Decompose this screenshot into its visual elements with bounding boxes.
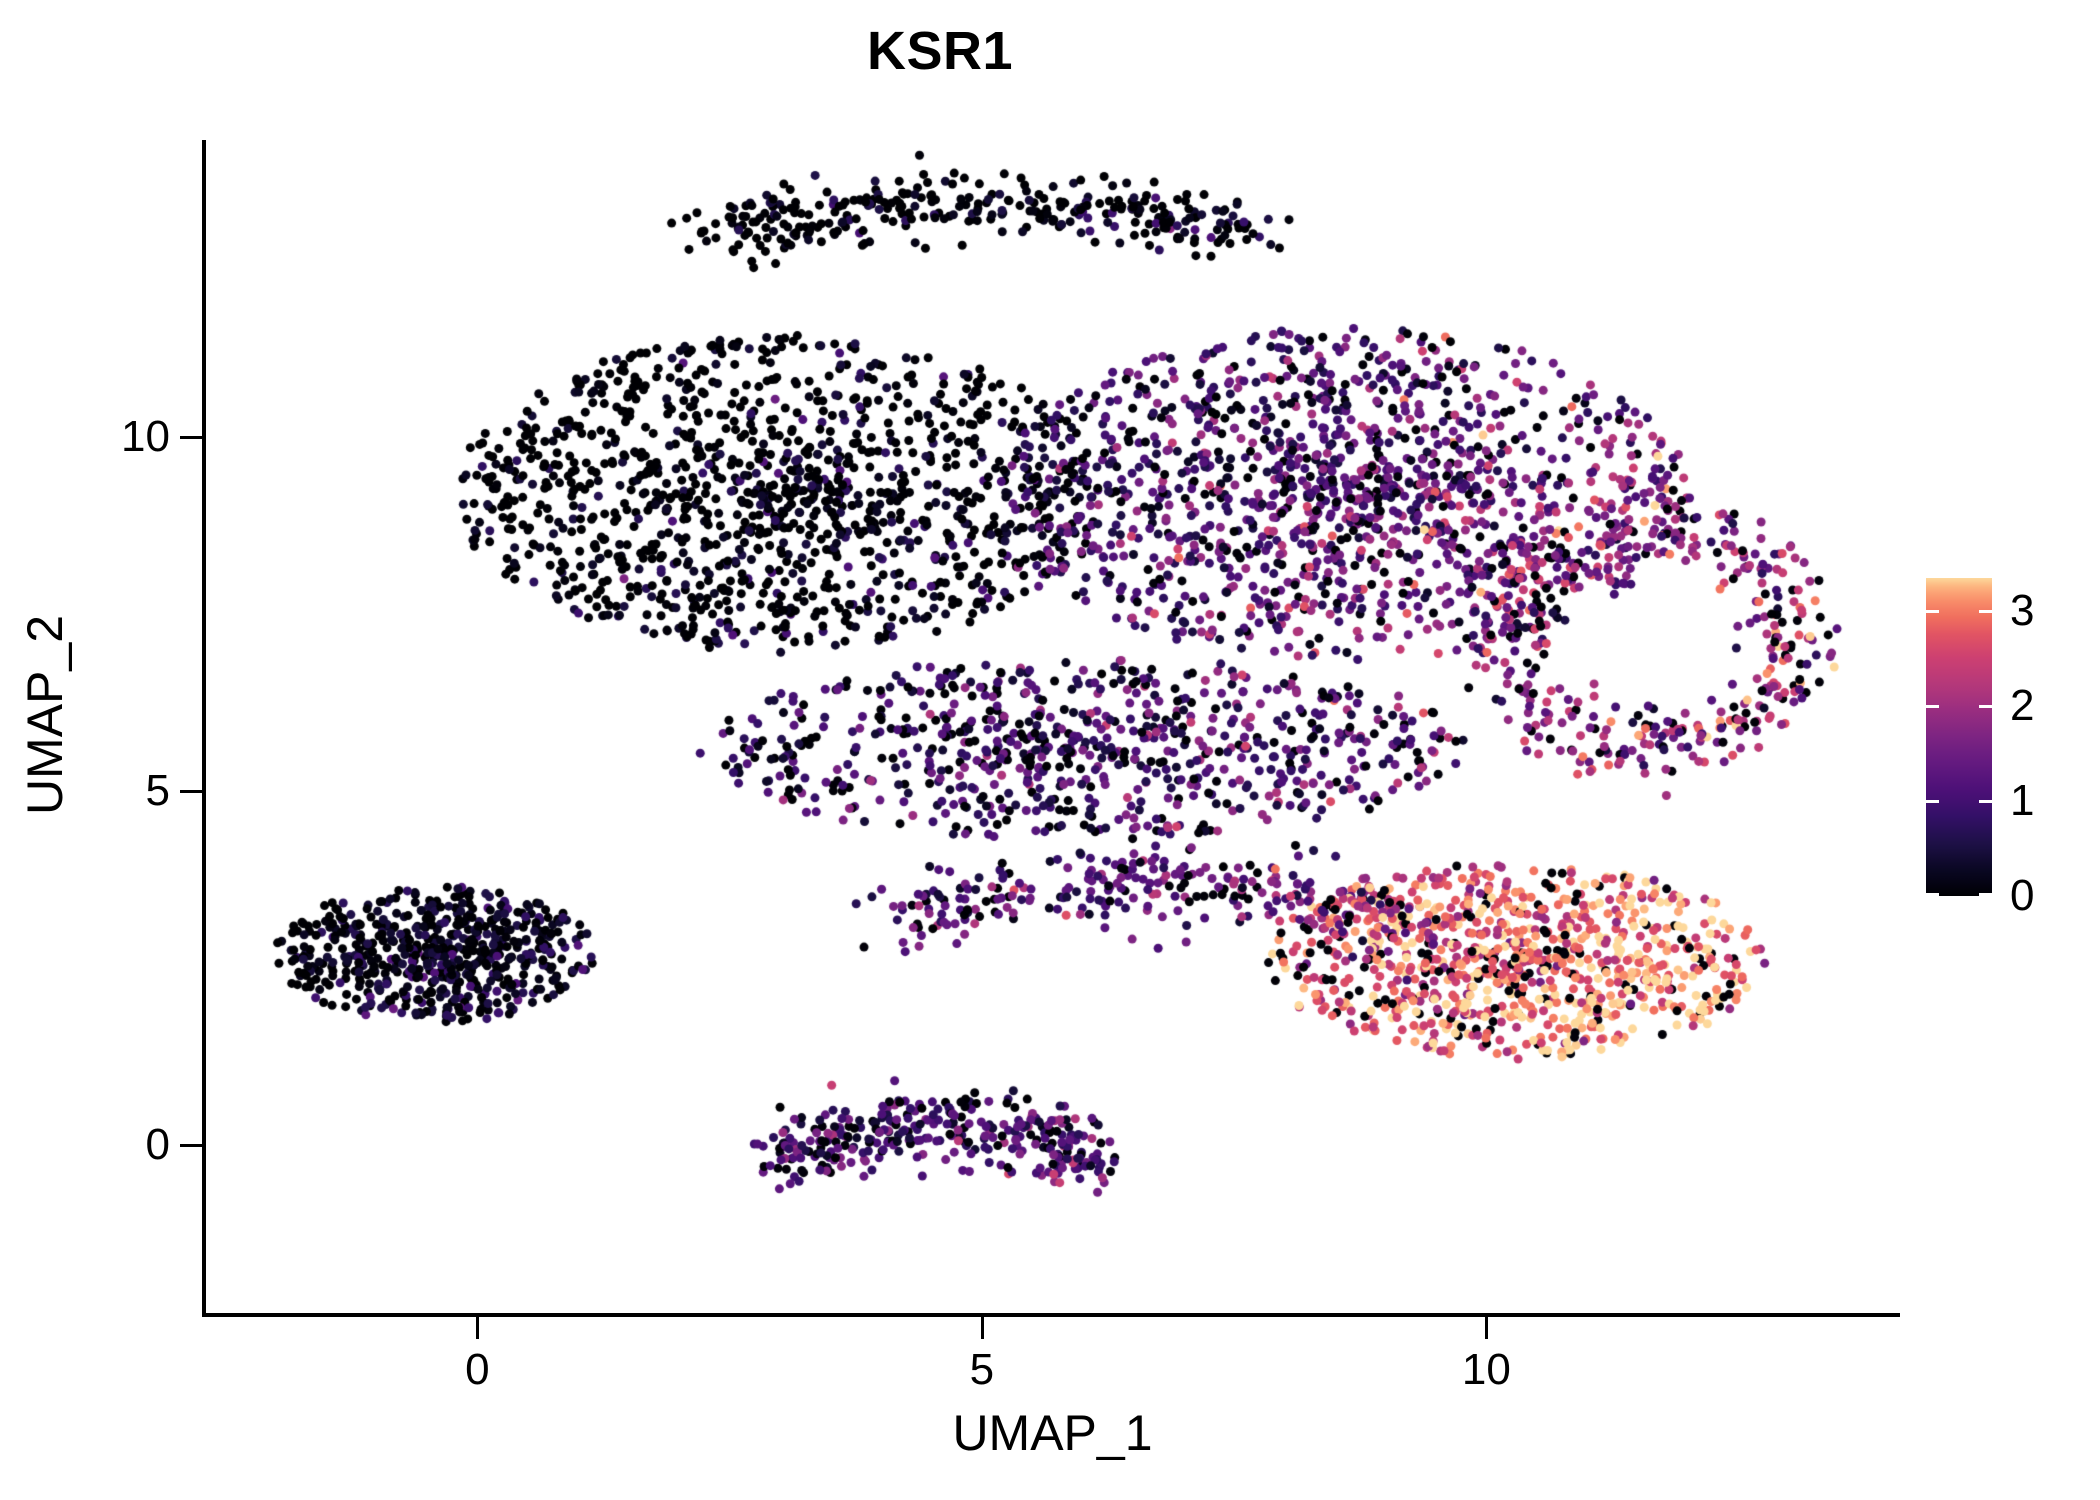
colorbar-tick-mark [1979,800,1992,803]
colorbar-tick-mark [1926,800,1939,803]
colorbar-tick-label: 1 [2010,779,2034,823]
page-title: KSR1 [0,24,1880,78]
x-tick-label: 10 [1426,1348,1546,1392]
y-tick-mark [180,790,202,793]
y-axis-title: UMAP_2 [20,365,70,1065]
x-axis-title: UMAP_1 [205,1408,1900,1458]
colorbar-tick-mark [1979,705,1992,708]
colorbar-tick-label: 2 [2010,684,2034,728]
feature-plot: KSR1 0510 0510 UMAP_1 UMAP_2 3210 [0,0,2100,1500]
colorbar-tick-label: 3 [2010,589,2034,633]
y-tick-mark [180,1144,202,1147]
x-axis-line [202,1313,1900,1317]
colorbar-tick-label: 0 [2010,874,2034,918]
colorbar-tick-mark [1926,705,1939,708]
x-tick-mark [1485,1317,1488,1339]
x-tick-mark [981,1317,984,1339]
colorbar-tick-mark [1926,893,1939,896]
y-axis-line [202,140,206,1317]
colorbar-tick-mark [1979,610,1992,613]
y-tick-label: 5 [60,769,170,813]
legend-colorbar: 3210 [1926,578,1992,896]
scatter-points [205,140,1900,1315]
y-tick-mark [180,436,202,439]
colorbar-tick-mark [1926,610,1939,613]
x-tick-label: 0 [417,1348,537,1392]
x-tick-mark [476,1317,479,1339]
y-tick-label: 0 [60,1123,170,1167]
x-tick-label: 5 [922,1348,1042,1392]
colorbar-tick-mark [1979,893,1992,896]
y-tick-label: 10 [60,415,170,459]
colorbar-gradient [1926,578,1992,896]
scatter-panel [205,140,1900,1315]
